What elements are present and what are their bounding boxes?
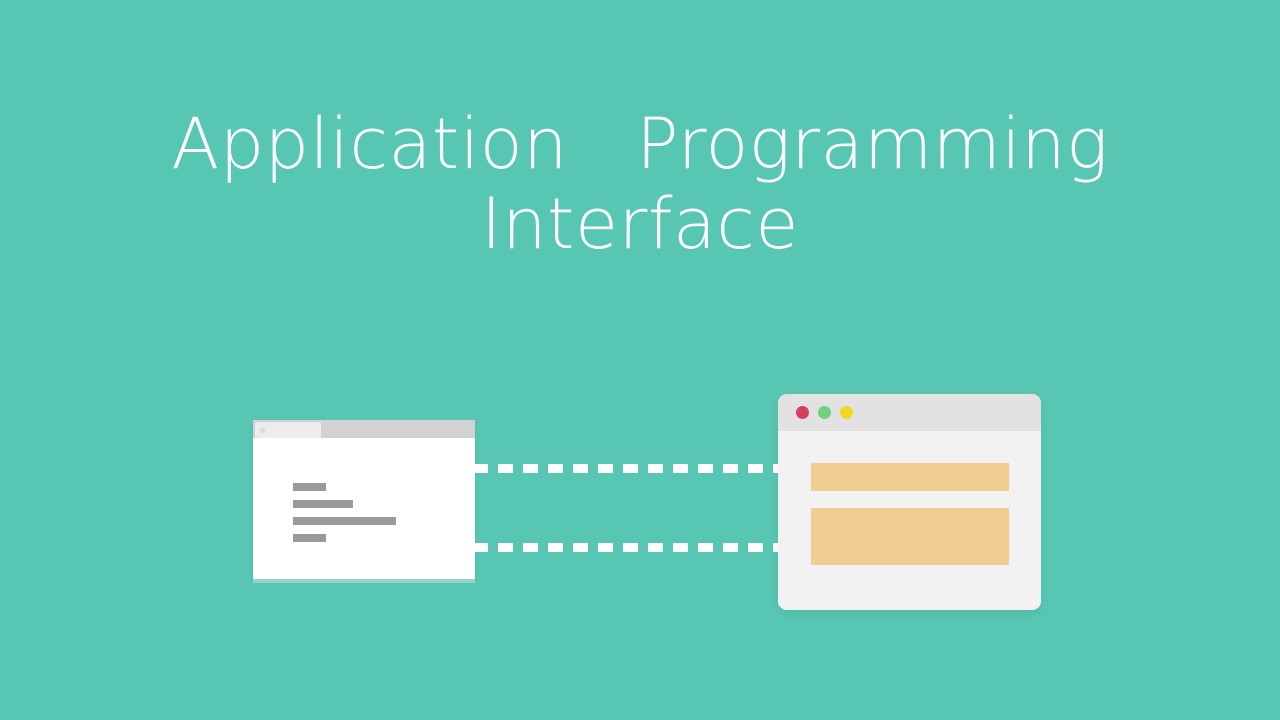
- code-editor-window[interactable]: [253, 420, 475, 579]
- browser-tab[interactable]: [255, 422, 321, 438]
- slide-canvas: Application Programming Interface: [0, 0, 1280, 720]
- code-editor-window-shadow: [253, 579, 475, 583]
- code-line: [293, 517, 396, 525]
- maximize-button-icon[interactable]: [840, 406, 853, 419]
- page-title-line-1: Application Programming: [0, 104, 1280, 184]
- application-titlebar[interactable]: [778, 394, 1041, 431]
- code-editor-body: [253, 438, 475, 579]
- code-line: [293, 500, 353, 508]
- content-block: [811, 463, 1009, 491]
- code-line: [293, 483, 326, 491]
- application-body: [778, 431, 1041, 610]
- page-title-line-2: Interface: [0, 184, 1280, 264]
- api-connector-top: [473, 464, 781, 473]
- content-block: [811, 508, 1009, 565]
- close-button-icon[interactable]: [796, 406, 809, 419]
- code-editor-titlebar[interactable]: [253, 420, 475, 438]
- minimize-button-icon[interactable]: [818, 406, 831, 419]
- application-window[interactable]: [778, 394, 1041, 610]
- api-connector-bottom: [473, 543, 781, 552]
- tab-favicon-icon: [260, 428, 265, 433]
- page-title: Application Programming Interface: [0, 104, 1280, 264]
- code-line: [293, 534, 326, 542]
